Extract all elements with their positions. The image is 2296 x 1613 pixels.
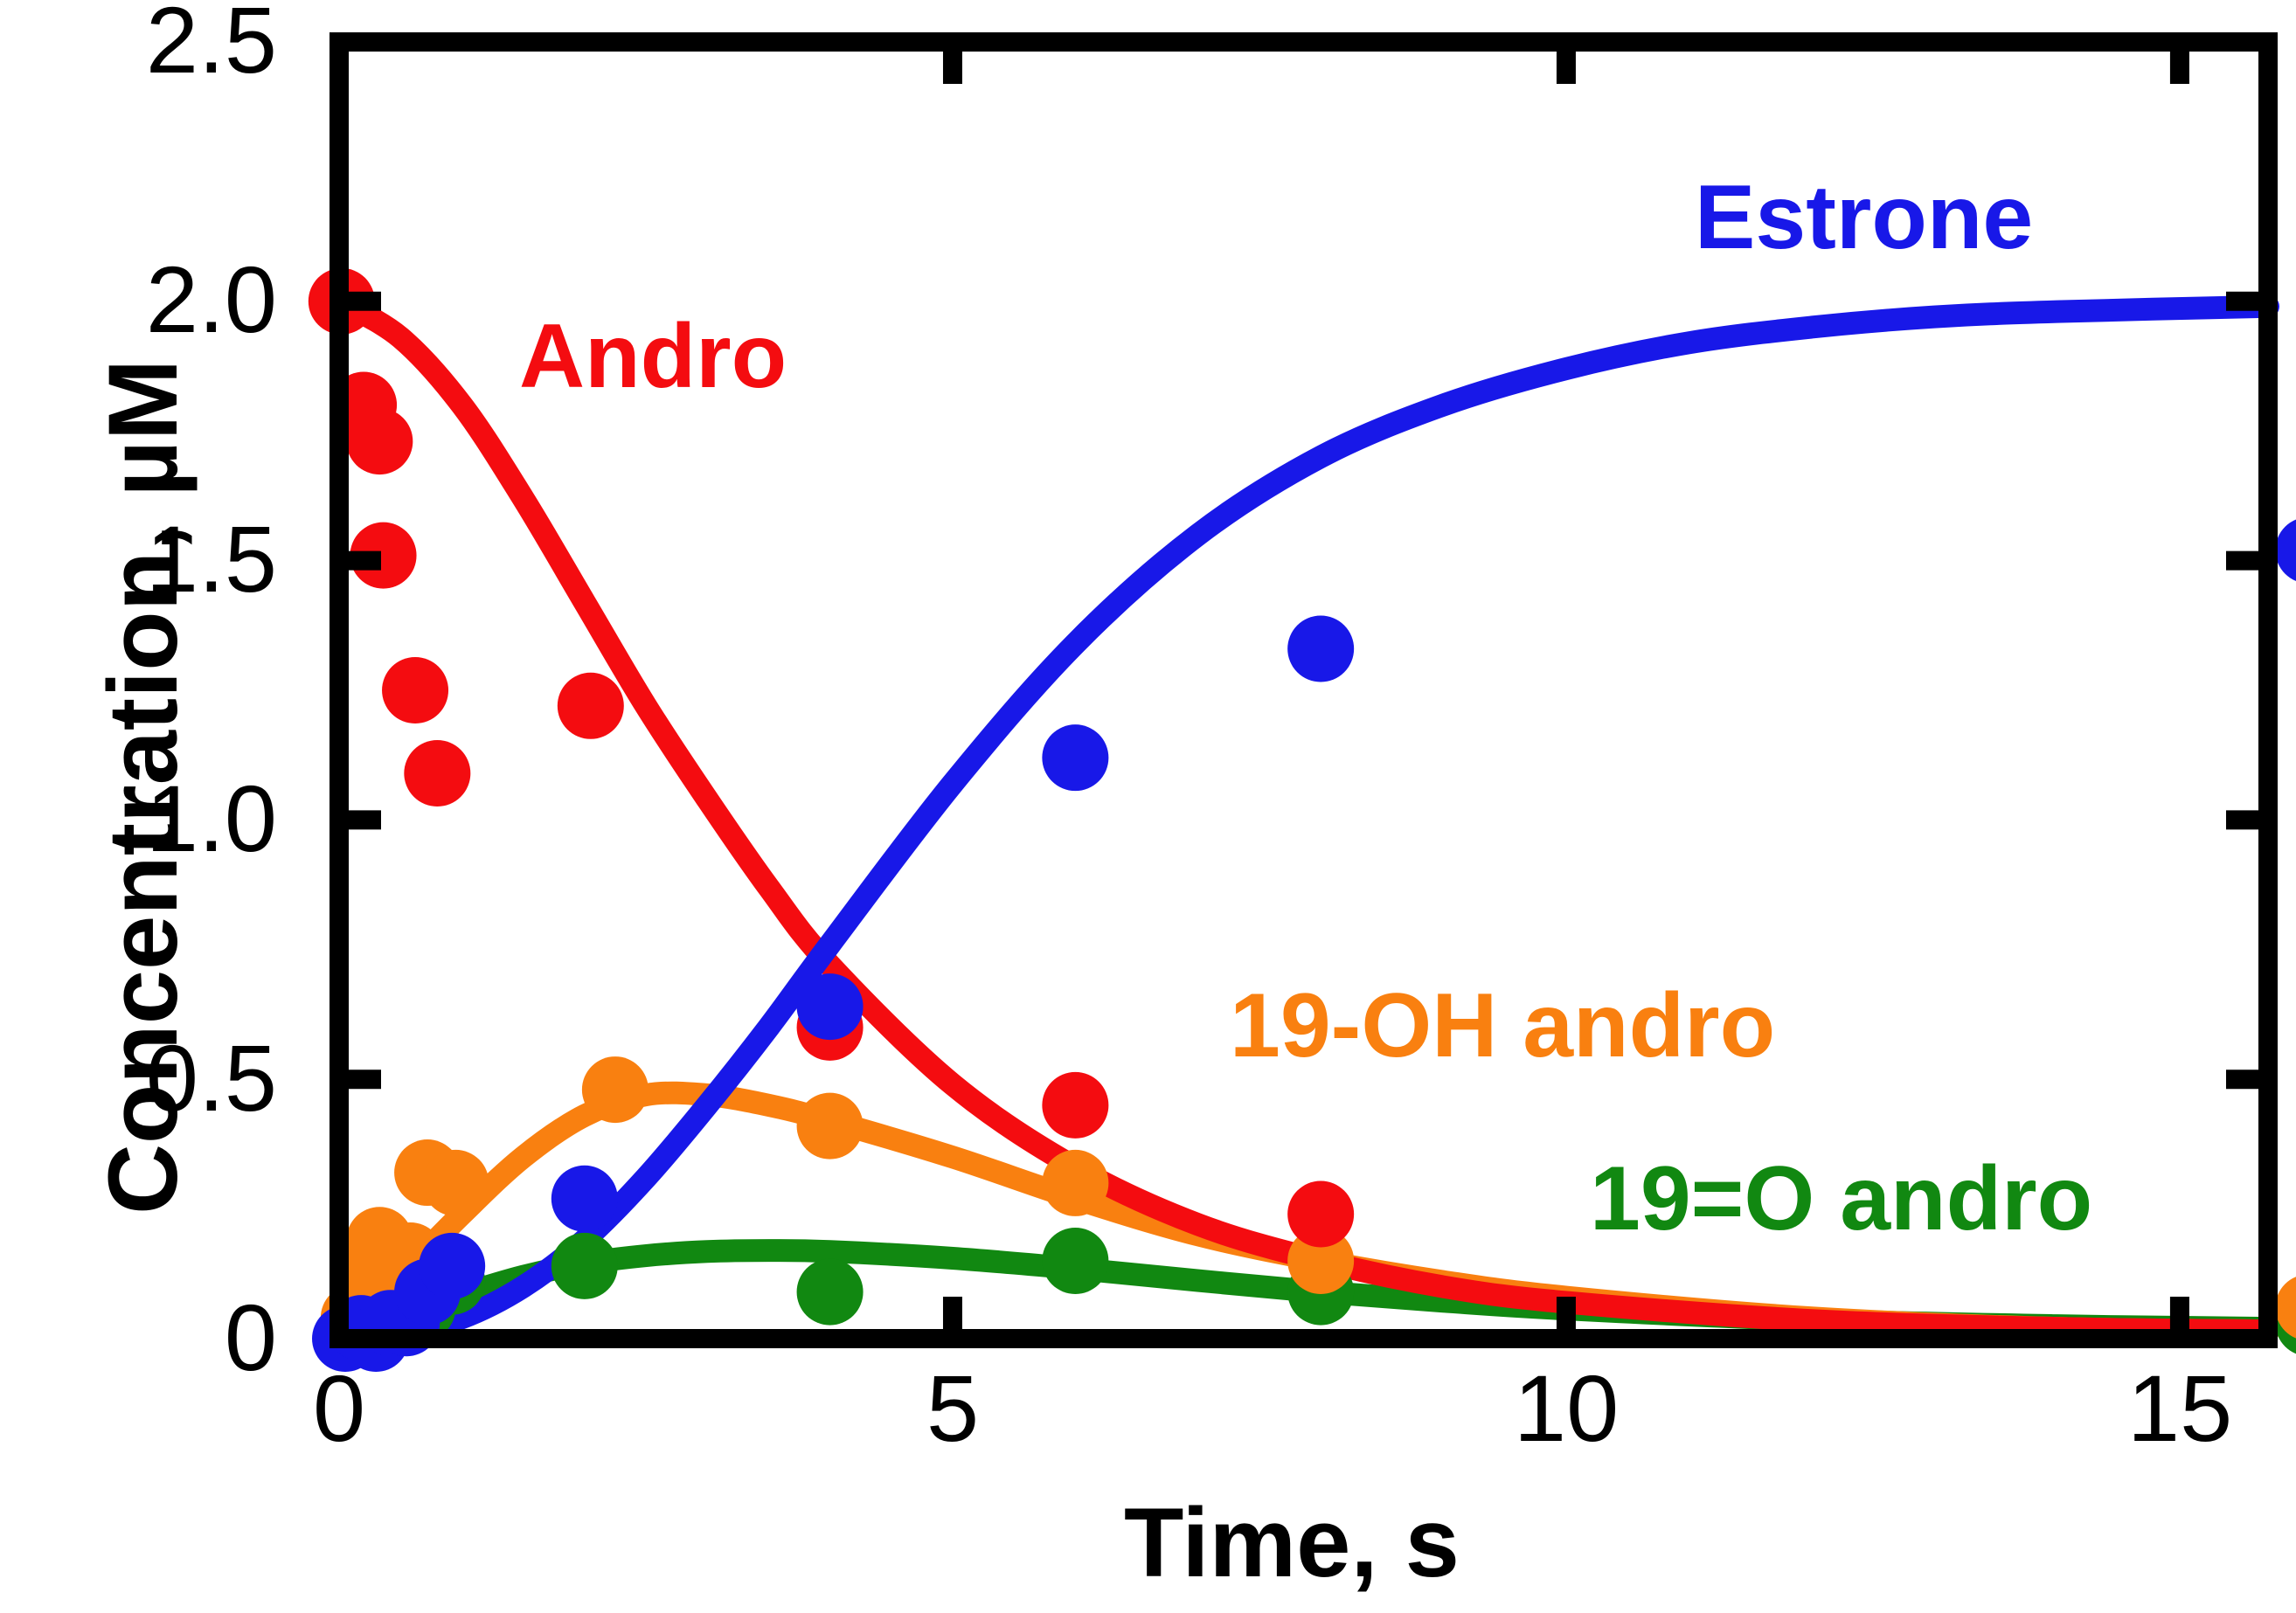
x-tick-label-0: 0 [313,1361,365,1456]
x-tick-label-5: 5 [926,1361,979,1456]
series-label-estrone: Estrone [1695,172,2033,263]
x-tick-label-10: 10 [1514,1361,1619,1456]
data-point [797,1259,864,1326]
data-point [419,1233,485,1299]
data-point [2275,517,2296,584]
series-label-19-oh-andro: 19-OH andro [1230,980,1775,1071]
series-label-andro: Andro [519,311,787,402]
data-point [1042,1228,1108,1294]
data-point [1042,1072,1108,1139]
series-label-19-o-andro: 19=O andro [1590,1153,2092,1244]
y-tick-label-0: 0 [225,1291,277,1385]
data-point [551,1166,618,1232]
data-point [558,673,624,739]
data-point [1287,1181,1354,1248]
data-point [1042,724,1108,791]
data-point [346,408,413,474]
chart-figure: 2.5 2.0 1.5 1.0 0.5 0 0 5 10 15 Time, s … [0,0,2296,1613]
data-point [422,1150,489,1216]
data-point [797,973,864,1040]
y-axis-title: Concentration, µM [94,359,192,1215]
data-point [382,657,448,723]
data-point [1287,616,1354,682]
x-axis-title: Time, s [1124,1494,1460,1592]
data-point [582,1056,649,1123]
data-point [797,1093,864,1160]
y-tick-label-2-5: 2.5 [146,0,277,87]
y-tick-label-2-0: 2.0 [146,253,277,347]
data-point [1042,1150,1108,1216]
data-point [404,740,470,806]
x-tick-label-15: 15 [2127,1361,2232,1456]
data-point [551,1233,618,1299]
